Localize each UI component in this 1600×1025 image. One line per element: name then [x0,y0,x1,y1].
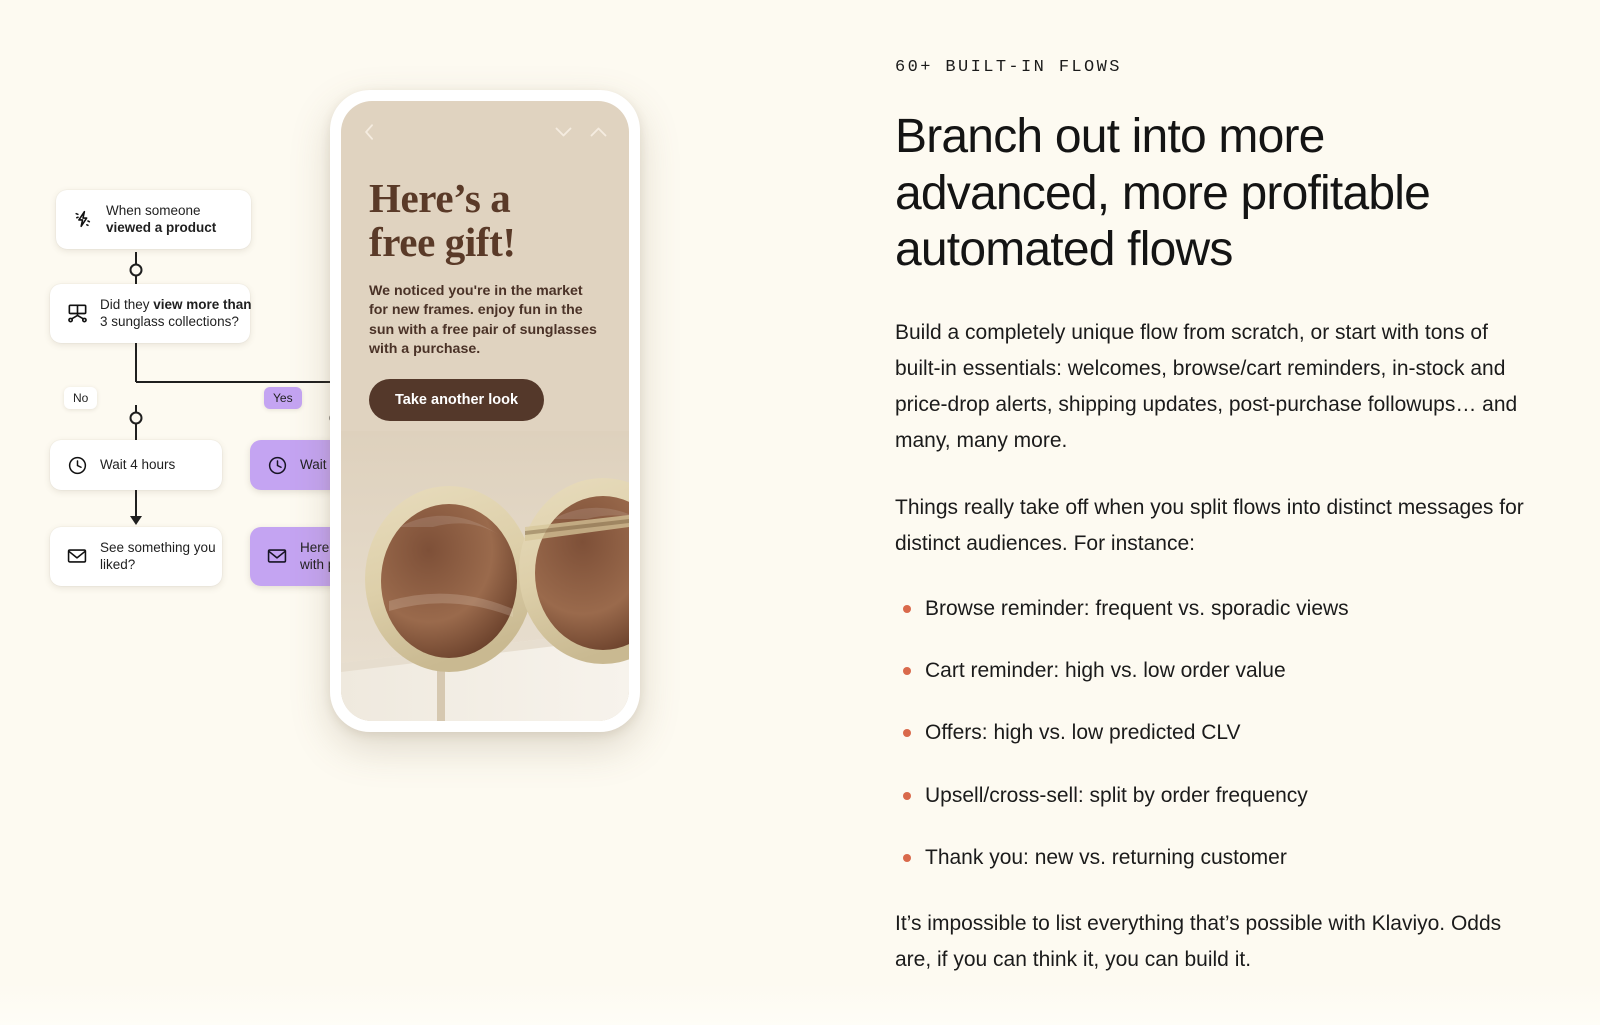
flow-node-email-no-branch[interactable]: See something you liked? [50,527,222,586]
take-another-look-button[interactable]: Take another look [369,379,544,421]
flow-node-label: Did they view more than 3 sunglass colle… [100,296,252,331]
chevron-up-icon[interactable] [588,124,609,140]
bullet-dot-icon [903,729,911,737]
envelope-icon [64,543,90,569]
page-title: Branch out into more advanced, more prof… [895,109,1535,279]
branch-label-no[interactable]: No [64,387,97,409]
connector-dot [131,265,142,276]
node-line-2: liked? [100,557,135,572]
flow-node-label: See something you liked? [100,539,216,574]
clock-icon [64,452,90,478]
conditional-split-icon [64,300,90,326]
flow-node-wait-no-branch[interactable]: Wait 4 hours [50,440,222,490]
list-item: Thank you: new vs. returning customer [895,843,1535,873]
text-panel: 60+ BUILT-IN FLOWS Branch out into more … [895,58,1535,978]
phone-body-text: We noticed you're in the market for new … [369,282,601,360]
cream-sunglasses-photo [341,431,629,721]
list-item: Browse reminder: frequent vs. sporadic v… [895,594,1535,624]
flow-node-label: Wait 4 hours [100,456,175,473]
list-item: Offers: high vs. low predicted CLV [895,718,1535,748]
phone-screen: Here’s a free gift! We noticed you're in… [341,101,629,721]
node-line-1: See something you [100,540,216,555]
connector-dot [131,413,142,424]
chevron-down-icon[interactable] [553,124,574,140]
bullet-dot-icon [903,854,911,862]
flow-node-label: When someone viewed a product [106,202,216,237]
bullet-dot-icon [903,667,911,675]
flow-node-trigger[interactable]: When someone viewed a product [56,190,251,249]
list-item-label: Offers: high vs. low predicted CLV [925,721,1241,744]
list-item-label: Upsell/cross-sell: split by order freque… [925,784,1308,807]
phone-headline: Here’s a free gift! [369,177,601,265]
envelope-icon [264,543,290,569]
branch-label-yes[interactable]: Yes [264,387,302,409]
list-item: Upsell/cross-sell: split by order freque… [895,781,1535,811]
phone-headline-line-1: Here’s a [369,175,510,221]
bullet-dot-icon [903,605,911,613]
use-case-list: Browse reminder: frequent vs. sporadic v… [895,594,1535,874]
phone-content: Here’s a free gift! We noticed you're in… [341,163,629,421]
phone-mockup: Here’s a free gift! We noticed you're in… [330,90,640,732]
phone-topbar [341,101,629,163]
paragraph-intro: Build a completely unique flow from scra… [895,315,1535,459]
list-item-label: Thank you: new vs. returning customer [925,846,1287,869]
phone-headline-line-2: free gift! [369,219,516,265]
eyebrow-label: 60+ BUILT-IN FLOWS [895,58,1535,77]
lightning-bolt-icon [70,206,96,232]
node-line-1-bold: view more than [153,297,251,312]
list-item: Cart reminder: high vs. low order value [895,656,1535,686]
list-item-label: Browse reminder: frequent vs. sporadic v… [925,597,1349,620]
list-item-label: Cart reminder: high vs. low order value [925,659,1286,682]
bullet-dot-icon [903,792,911,800]
paragraph-closing: It’s impossible to list everything that’… [895,906,1535,978]
node-line-2: 3 sunglass collections? [100,314,239,329]
arrow-head [130,516,142,525]
flow-node-conditional-split[interactable]: Did they view more than 3 sunglass colle… [50,284,250,343]
node-line-1: When someone [106,203,201,218]
paragraph-split-flows: Things really take off when you split fl… [895,490,1535,562]
chevron-left-icon[interactable] [361,121,378,143]
node-line-2: viewed a product [106,220,216,235]
visual-panel: When someone viewed a product Did t [0,0,870,1025]
clock-icon [264,452,290,478]
node-line-1: Did they [100,297,153,312]
page-root: When someone viewed a product Did t [0,0,1600,1025]
